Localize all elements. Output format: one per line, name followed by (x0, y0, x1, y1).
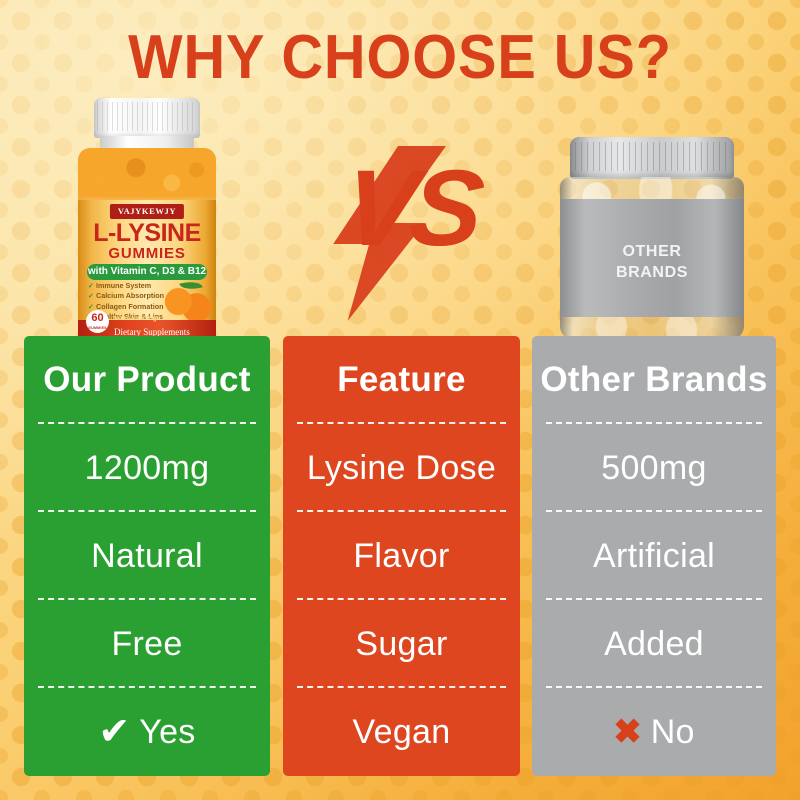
bottle-count-badge: 60 GUMMIES (86, 310, 109, 333)
jar-label-line2: BRANDS (560, 262, 744, 283)
other-value: No (651, 713, 695, 752)
infographic-canvas: WHY CHOOSE US? VAJYKEWJY L-LYSINE GUMMIE… (0, 0, 800, 800)
bottle-count-number: 60 (91, 312, 103, 324)
feature-name: Flavor (353, 537, 449, 576)
bottle-product-name: L-LYSINE (78, 219, 216, 248)
feature-name: Lysine Dose (307, 449, 496, 488)
table-row: 500mg (532, 424, 776, 512)
our-value: Free (111, 625, 182, 664)
comparison-column-feature: Feature Lysine Dose Flavor Sugar Vegan (283, 336, 520, 776)
versus-label: VS (310, 152, 512, 264)
bottle-body: VAJYKEWJY L-LYSINE GUMMIES with Vitamin … (78, 148, 216, 366)
jar-label-text: OTHER BRANDS (560, 241, 744, 283)
table-row: Free (24, 600, 270, 688)
table-row: 1200mg (24, 424, 270, 512)
jar-lid (570, 137, 734, 179)
our-value: 1200mg (85, 449, 210, 488)
column-header-label: Our Product (43, 360, 250, 400)
cross-icon: ✖ (613, 715, 642, 749)
our-product-bottle-image: VAJYKEWJY L-LYSINE GUMMIES with Vitamin … (72, 98, 222, 366)
other-value: 500mg (601, 449, 706, 488)
bottle-product-form: GUMMIES (78, 245, 216, 262)
page-title: WHY CHOOSE US? (28, 22, 772, 93)
bottle-benefit-item: Immune System (88, 281, 164, 291)
comparison-column-our-product: Our Product 1200mg Natural Free ✔ Yes (24, 336, 270, 776)
table-row: Added (532, 600, 776, 688)
table-row: Flavor (283, 512, 520, 600)
checkmark-icon: ✔ (98, 715, 130, 749)
bottle-benefit-item: Calcium Absorption (88, 291, 164, 301)
orange-fruit-icon (164, 276, 212, 320)
column-header-feature: Feature (283, 336, 520, 424)
feature-name: Vegan (353, 713, 451, 752)
table-row: Artificial (532, 512, 776, 600)
bottle-cap-ribs (97, 102, 197, 131)
jar-body: OTHER BRANDS (560, 177, 744, 340)
bottle-count-unit: GUMMIES (86, 326, 109, 330)
bottle-cap (94, 98, 200, 138)
table-row: ✔ Yes (24, 688, 270, 776)
table-row: Lysine Dose (283, 424, 520, 512)
other-brands-jar-image: OTHER BRANDS (556, 137, 748, 342)
bottle-flavor-text: Natural Orange Flavor (114, 315, 181, 322)
column-header-label: Feature (337, 360, 466, 400)
other-value: Artificial (593, 537, 715, 576)
jar-label: OTHER BRANDS (560, 199, 744, 317)
our-value: Natural (91, 537, 203, 576)
table-row: ✖ No (532, 688, 776, 776)
other-value: Added (604, 625, 704, 664)
column-header-other-brands: Other Brands (532, 336, 776, 424)
table-row: Natural (24, 512, 270, 600)
our-value: Yes (139, 713, 195, 752)
bottle-label: VAJYKEWJY L-LYSINE GUMMIES with Vitamin … (78, 200, 216, 320)
column-header-label: Other Brands (540, 360, 767, 400)
bottle-brand-name: VAJYKEWJY (110, 204, 184, 219)
table-row: Vegan (283, 688, 520, 776)
versus-badge: VS (316, 146, 506, 321)
jar-label-line1: OTHER (560, 241, 744, 262)
comparison-column-other-brands: Other Brands 500mg Artificial Added ✖ No (532, 336, 776, 776)
jar-lid-ribs (575, 142, 729, 171)
column-header-our-product: Our Product (24, 336, 270, 424)
table-row: Sugar (283, 600, 520, 688)
feature-name: Sugar (355, 625, 447, 664)
